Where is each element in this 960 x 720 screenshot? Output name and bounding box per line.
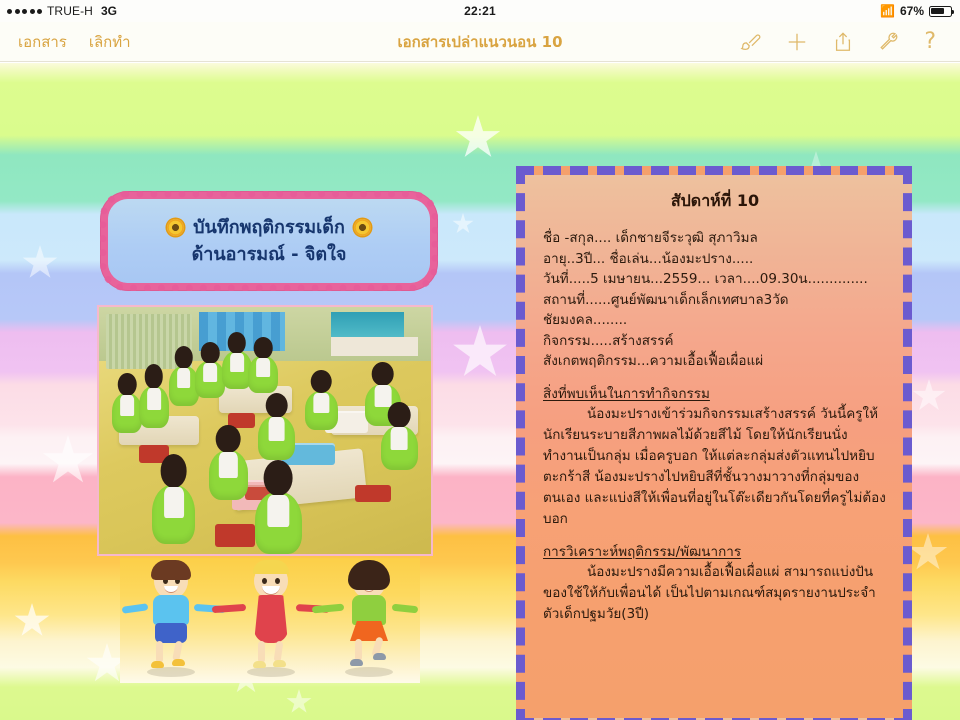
clipart-child-green — [336, 563, 402, 675]
report-section1-heading: สิ่งที่พบเห็นในการทำกิจกรรม — [543, 384, 887, 405]
clipart-hair — [151, 560, 191, 580]
photo-child — [381, 426, 418, 470]
toolbar-right-group: ? — [740, 31, 960, 53]
photo-child — [258, 416, 295, 460]
insert-plus-icon[interactable] — [786, 31, 808, 53]
clipart-shoe — [151, 661, 164, 668]
title-card-line-2: ด้านอารมณ์ - จิตใจ — [192, 241, 347, 268]
status-bar: TRUE-H 3G 22:21 📶 67% — [0, 0, 960, 22]
report-info-line: อายุ..3ปี... ชื่อเล่น...น้องมะปราง..... — [543, 249, 887, 270]
report-info-line: กิจกรรม.....สร้างสรรค์ — [543, 331, 887, 352]
photo-seat — [215, 524, 255, 546]
report-info-line: สังเกตพฤติกรรม...ความเอื้อเฟื้อเผื่อแผ่ — [543, 351, 887, 372]
report-section2-body: น้องมะปรางมีความเอื้อเฟื้อเผื่อแผ่ สามาร… — [543, 562, 887, 625]
photo-child — [195, 361, 225, 398]
title-card-line-1-row: บันทึกพฤติกรรมเด็ก — [167, 214, 371, 241]
clipart-hair — [253, 560, 289, 574]
photo-seat — [355, 485, 392, 502]
clipart-arm — [392, 604, 419, 614]
photo-child — [112, 393, 142, 433]
clipart-shirt — [153, 595, 189, 625]
classroom-photo[interactable] — [97, 305, 433, 556]
report-info-line: สถานที่......ศูนย์พัฒนาเด็กเล็กเทศบาล3วั… — [543, 290, 887, 311]
photo-child — [139, 386, 169, 428]
clipart-shoe — [350, 659, 363, 666]
clipart-shoe — [172, 659, 185, 666]
share-icon[interactable] — [832, 31, 854, 53]
children-clipart[interactable] — [120, 558, 420, 683]
app-toolbar: เอกสาร เลิกทำ เอกสารเปล่าแนวนอน 10 — [0, 22, 960, 62]
report-info-line: วันที่.....5 เมษายน...2559... เวลา....09… — [543, 269, 887, 290]
clock-label: 22:21 — [0, 4, 960, 18]
report-section2-heading: การวิเคราะห์พฤติกรรม/พัฒนาการ — [543, 542, 887, 563]
clipart-shadow — [147, 667, 195, 677]
clipart-shoe — [373, 653, 386, 660]
clipart-hair — [348, 560, 390, 590]
battery-percent-label: 67% — [900, 4, 924, 18]
photo-child — [305, 391, 338, 431]
clipart-shadow — [345, 667, 393, 677]
report-info-line: ชัยมงคล........ — [543, 310, 887, 331]
document-canvas[interactable]: บันทึกพฤติกรรมเด็ก ด้านอารมณ์ - จิตใจ — [0, 63, 960, 720]
clipart-arm — [212, 604, 246, 613]
bluetooth-icon: 📶 — [880, 5, 895, 17]
report-info-line: ชื่อ -สกุล.... เด็กชายจีระวุฒิ สุภาวิมล — [543, 228, 887, 249]
photo-child — [222, 351, 252, 388]
clipart-dress — [254, 595, 288, 643]
photo-child — [209, 450, 249, 499]
clipart-smile — [262, 586, 280, 595]
clipart-arm — [122, 603, 149, 614]
clipart-arm — [312, 604, 344, 614]
photo-white-shelf — [331, 337, 417, 357]
clipart-shoe — [273, 660, 286, 667]
report-section1-body: น้องมะปรางเข้าร่วมกิจกรรมเสร้างสรรค์ วัน… — [543, 404, 887, 530]
undo-button[interactable]: เลิกทำ — [89, 30, 131, 54]
clipart-eye — [262, 578, 267, 584]
toolbar-left-group: เอกสาร เลิกทำ — [0, 30, 131, 54]
clipart-shirt — [352, 595, 386, 625]
clipart-eye — [275, 578, 280, 584]
documents-button[interactable]: เอกสาร — [18, 30, 67, 54]
photo-child — [248, 356, 278, 393]
brush-icon[interactable] — [740, 31, 762, 53]
clipart-leg — [258, 641, 265, 663]
clipart-shoe — [253, 661, 266, 668]
clipart-child-blue — [138, 563, 204, 675]
report-text-box[interactable]: สัปดาห์ที่ 10 ชื่อ -สกุล.... เด็กชายจีระ… — [516, 166, 912, 720]
photo-child — [169, 366, 199, 406]
sunflower-icon — [354, 219, 371, 236]
clipart-leg — [156, 641, 163, 663]
photo-child — [152, 485, 195, 544]
status-bar-right: 📶 67% — [880, 4, 960, 18]
clipart-pants — [155, 623, 187, 643]
tools-wrench-icon[interactable] — [878, 31, 900, 53]
clipart-leg — [355, 639, 362, 661]
report-week-title: สัปดาห์ที่ 10 — [543, 189, 887, 214]
title-card-line-1: บันทึกพฤติกรรมเด็ก — [193, 214, 345, 241]
help-icon[interactable]: ? — [924, 31, 936, 53]
ipad-pages-screen: TRUE-H 3G 22:21 📶 67% เอกสาร เลิกทำ เอกส… — [0, 0, 960, 720]
spacer — [543, 372, 887, 384]
clipart-smile — [164, 586, 178, 593]
photo-child — [255, 492, 301, 554]
clipart-child-red — [238, 563, 304, 675]
sunflower-icon — [167, 219, 184, 236]
battery-icon — [929, 6, 952, 17]
photo-content — [99, 307, 431, 554]
spacer — [543, 530, 887, 542]
document-title-card[interactable]: บันทึกพฤติกรรมเด็ก ด้านอารมณ์ - จิตใจ — [108, 199, 430, 283]
clipart-shadow — [247, 667, 295, 677]
